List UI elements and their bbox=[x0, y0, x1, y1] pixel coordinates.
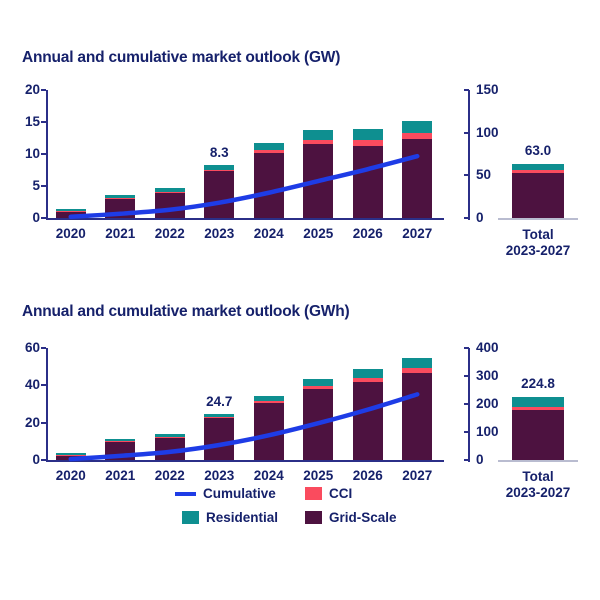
total-caption-line2: 2023-2027 bbox=[483, 485, 593, 501]
legend-item: CCI bbox=[305, 487, 352, 501]
total-bar-segment-grid-scale bbox=[512, 410, 564, 460]
plot-area-gw: 0510152005010015020202021202220238.32024… bbox=[0, 0, 480, 260]
chart-panel-gwh: Annual and cumulative market outlook (GW… bbox=[0, 260, 480, 510]
legend-label: Residential bbox=[206, 511, 278, 525]
legend-item: Cumulative bbox=[175, 487, 276, 501]
legend-label: Cumulative bbox=[203, 487, 276, 501]
chart-legend: CumulativeCCIResidentialGrid-Scale bbox=[0, 485, 480, 545]
total-value-label: 63.0 bbox=[496, 144, 580, 158]
total-bar-stack bbox=[512, 397, 564, 460]
total-value-label: 224.8 bbox=[496, 377, 580, 391]
legend-label: Grid-Scale bbox=[329, 511, 397, 525]
cumulative-line-path bbox=[71, 156, 418, 217]
total-caption: Total2023-2027 bbox=[483, 227, 593, 258]
legend-swatch-residential bbox=[182, 511, 199, 524]
legend-item: Grid-Scale bbox=[305, 511, 397, 525]
total-panel-gwh: 224.8Total2023-2027 bbox=[480, 260, 600, 510]
total-caption-line1: Total bbox=[483, 227, 593, 243]
total-caption-line1: Total bbox=[483, 469, 593, 485]
legend-label: CCI bbox=[329, 487, 352, 501]
cumulative-line-path bbox=[71, 394, 418, 459]
cumulative-line-series bbox=[0, 260, 480, 510]
total-bar-segment-residential bbox=[512, 397, 564, 407]
total-panel-gw: 63.0Total2023-2027 bbox=[480, 0, 600, 260]
chart-panel-gw: Annual and cumulative market outlook (GW… bbox=[0, 0, 480, 260]
total-caption-line2: 2023-2027 bbox=[483, 243, 593, 259]
plot-area-gwh: 02040600100200300400202020212022202324.7… bbox=[0, 260, 480, 510]
total-bar-segment-grid-scale bbox=[512, 173, 564, 218]
total-baseline bbox=[498, 218, 578, 220]
legend-swatch-cci bbox=[305, 487, 322, 500]
legend-swatch-grid-scale bbox=[305, 511, 322, 524]
legend-item: Residential bbox=[182, 511, 278, 525]
legend-line-marker-cumulative bbox=[175, 492, 196, 496]
total-bar-stack bbox=[512, 164, 564, 218]
total-caption: Total2023-2027 bbox=[483, 469, 593, 500]
total-baseline bbox=[498, 460, 578, 462]
cumulative-line-series bbox=[0, 0, 480, 260]
